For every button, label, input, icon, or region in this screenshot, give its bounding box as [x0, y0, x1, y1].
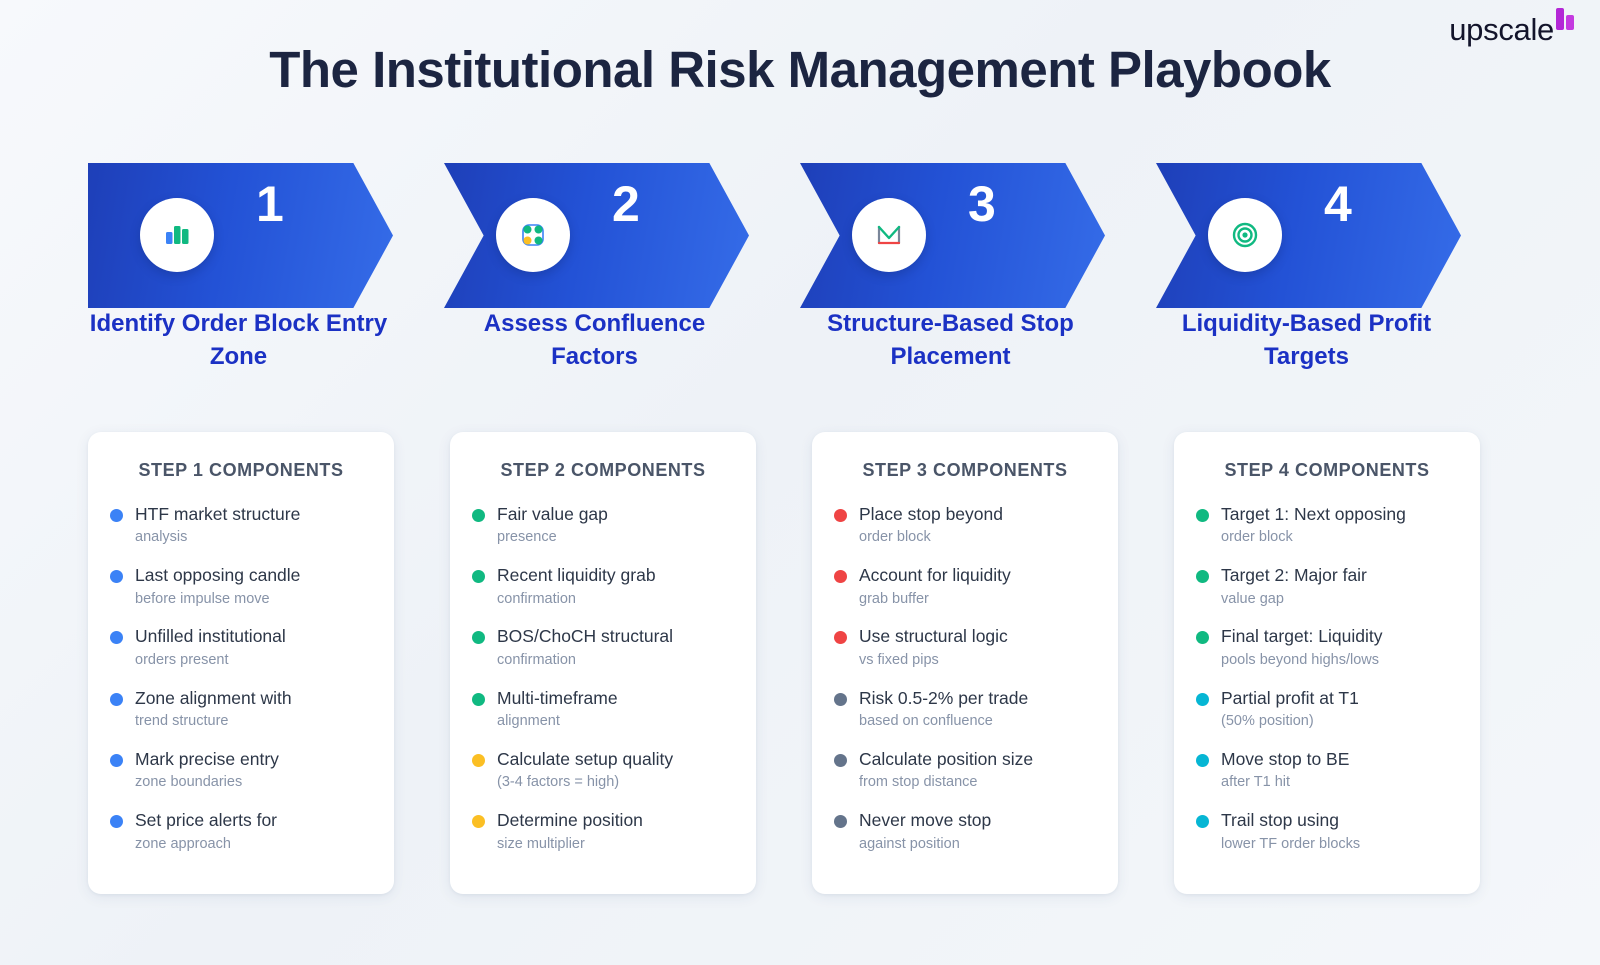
list-item-title: Target 1: Next opposing [1221, 503, 1458, 525]
list-item: Partial profit at T1(50% position) [1196, 687, 1458, 731]
step-heading: Identify Order Block Entry Zone [88, 308, 389, 374]
list-item-body: BOS/ChoCH structuralconfirmation [497, 625, 734, 669]
step-number: 1 [256, 179, 284, 229]
list-item-body: Set price alerts forzone approach [135, 809, 372, 853]
step-arrow-2[interactable]: 2 [444, 163, 800, 308]
list-item-subtitle: zone boundaries [135, 773, 372, 792]
bullet-dot-icon [110, 631, 123, 644]
bullet-dot-icon [1196, 570, 1209, 583]
list-item: Recent liquidity grabconfirmation [472, 564, 734, 608]
list-item: Risk 0.5-2% per tradebased on confluence [834, 687, 1096, 731]
step-arrow-1[interactable]: 1 [88, 163, 444, 308]
list-item-subtitle: based on confluence [859, 712, 1096, 731]
list-item-title: Set price alerts for [135, 809, 372, 831]
list-item-subtitle: (50% position) [1221, 712, 1458, 731]
list-item-subtitle: alignment [497, 712, 734, 731]
step-heading: Structure-Based Stop Placement [800, 308, 1101, 374]
step-arrows-row: 1234 [88, 163, 1512, 308]
list-item: Final target: Liquiditypools beyond high… [1196, 625, 1458, 669]
bullet-dot-icon [834, 754, 847, 767]
bullet-dot-icon [110, 754, 123, 767]
step-number: 4 [1324, 179, 1352, 229]
list-item-title: Use structural logic [859, 625, 1096, 647]
bullet-dot-icon [1196, 754, 1209, 767]
list-item-subtitle: grab buffer [859, 590, 1096, 609]
list-item-title: Last opposing candle [135, 564, 372, 586]
list-item: Multi-timeframealignment [472, 687, 734, 731]
list-item-title: Target 2: Major fair [1221, 564, 1458, 586]
arrow-banner-shape [800, 163, 1105, 308]
list-item-body: Multi-timeframealignment [497, 687, 734, 731]
list-item-body: Risk 0.5-2% per tradebased on confluence [859, 687, 1096, 731]
list-item-body: Final target: Liquiditypools beyond high… [1221, 625, 1458, 669]
list-item-subtitle: analysis [135, 528, 372, 547]
list-item-title: Risk 0.5-2% per trade [859, 687, 1096, 709]
list-item-body: Target 2: Major fairvalue gap [1221, 564, 1458, 608]
target-icon [1208, 198, 1282, 272]
card-title: STEP 4 COMPONENTS [1196, 460, 1458, 481]
list-item: Zone alignment withtrend structure [110, 687, 372, 731]
bullet-dot-icon [834, 815, 847, 828]
bullet-dot-icon [472, 815, 485, 828]
component-card: STEP 2 COMPONENTSFair value gappresenceR… [450, 432, 756, 894]
list-item-subtitle: vs fixed pips [859, 651, 1096, 670]
envelope-icon [852, 198, 926, 272]
bullet-dot-icon [110, 570, 123, 583]
bullet-dot-icon [1196, 693, 1209, 706]
bullet-dot-icon [1196, 509, 1209, 522]
component-card: STEP 1 COMPONENTSHTF market structureana… [88, 432, 394, 894]
list-item: Move stop to BEafter T1 hit [1196, 748, 1458, 792]
list-item-title: HTF market structure [135, 503, 372, 525]
list-item: Determine positionsize multiplier [472, 809, 734, 853]
list-item-title: Zone alignment with [135, 687, 372, 709]
list-item-subtitle: confirmation [497, 651, 734, 670]
list-item-title: Trail stop using [1221, 809, 1458, 831]
list-item-subtitle: lower TF order blocks [1221, 835, 1458, 854]
bullet-dot-icon [472, 631, 485, 644]
step-number: 2 [612, 179, 640, 229]
list-item-title: Unfilled institutional [135, 625, 372, 647]
page-title: The Institutional Risk Management Playbo… [0, 40, 1600, 99]
list-item-subtitle: value gap [1221, 590, 1458, 609]
list-item-body: Zone alignment withtrend structure [135, 687, 372, 731]
list-item-title: Multi-timeframe [497, 687, 734, 709]
bullet-dot-icon [472, 693, 485, 706]
list-item-title: Final target: Liquidity [1221, 625, 1458, 647]
list-item-subtitle: confirmation [497, 590, 734, 609]
step-heading-cell-1: Identify Order Block Entry Zone [88, 308, 444, 374]
step-heading-cell-4: Liquidity-Based Profit Targets [1156, 308, 1512, 374]
list-item: Set price alerts forzone approach [110, 809, 372, 853]
list-item-title: Fair value gap [497, 503, 734, 525]
step-heading-cell-2: Assess Confluence Factors [444, 308, 800, 374]
list-item-body: Target 1: Next opposingorder block [1221, 503, 1458, 547]
list-item-body: Unfilled institutionalorders present [135, 625, 372, 669]
list-item: Last opposing candlebefore impulse move [110, 564, 372, 608]
list-item-body: Account for liquiditygrab buffer [859, 564, 1096, 608]
step-heading-cell-3: Structure-Based Stop Placement [800, 308, 1156, 374]
list-item-title: Partial profit at T1 [1221, 687, 1458, 709]
bullet-dot-icon [1196, 815, 1209, 828]
list-item: Target 1: Next opposingorder block [1196, 503, 1458, 547]
list-item: Unfilled institutionalorders present [110, 625, 372, 669]
list-item-body: Last opposing candlebefore impulse move [135, 564, 372, 608]
list-item-subtitle: zone approach [135, 835, 372, 854]
step-arrow-3[interactable]: 3 [800, 163, 1156, 308]
step-number: 3 [968, 179, 996, 229]
list-item-body: Partial profit at T1(50% position) [1221, 687, 1458, 731]
bullet-dot-icon [834, 631, 847, 644]
list-item-subtitle: order block [859, 528, 1096, 547]
list-item: Target 2: Major fairvalue gap [1196, 564, 1458, 608]
list-item-subtitle: orders present [135, 651, 372, 670]
list-item: Never move stopagainst position [834, 809, 1096, 853]
list-item-title: Calculate position size [859, 748, 1096, 770]
list-item-subtitle: pools beyond highs/lows [1221, 651, 1458, 670]
bullet-dot-icon [834, 570, 847, 583]
list-item: Use structural logicvs fixed pips [834, 625, 1096, 669]
list-item-title: Calculate setup quality [497, 748, 734, 770]
list-item-title: BOS/ChoCH structural [497, 625, 734, 647]
component-cards-row: STEP 1 COMPONENTSHTF market structureana… [88, 432, 1512, 894]
list-item-title: Determine position [497, 809, 734, 831]
list-item-body: Recent liquidity grabconfirmation [497, 564, 734, 608]
list-item-title: Recent liquidity grab [497, 564, 734, 586]
bullet-dot-icon [1196, 631, 1209, 644]
list-item-subtitle: before impulse move [135, 590, 372, 609]
list-item-body: Use structural logicvs fixed pips [859, 625, 1096, 669]
step-arrow-4[interactable]: 4 [1156, 163, 1512, 308]
bar-chart-icon [140, 198, 214, 272]
list-item: Mark precise entryzone boundaries [110, 748, 372, 792]
arrow-banner-shape [1156, 163, 1461, 308]
arrow-banner-shape [88, 163, 393, 308]
list-item: Trail stop usinglower TF order blocks [1196, 809, 1458, 853]
bullet-dot-icon [834, 693, 847, 706]
list-item: Calculate setup quality(3-4 factors = hi… [472, 748, 734, 792]
component-card: STEP 3 COMPONENTSPlace stop beyondorder … [812, 432, 1118, 894]
list-item: Account for liquiditygrab buffer [834, 564, 1096, 608]
puzzle-cluster-icon [496, 198, 570, 272]
bullet-dot-icon [472, 754, 485, 767]
list-item-title: Account for liquidity [859, 564, 1096, 586]
bullet-dot-icon [110, 693, 123, 706]
list-item-subtitle: order block [1221, 528, 1458, 547]
list-item: Place stop beyondorder block [834, 503, 1096, 547]
arrow-banner-shape [444, 163, 749, 308]
list-item: Fair value gappresence [472, 503, 734, 547]
list-item-body: Mark precise entryzone boundaries [135, 748, 372, 792]
list-item-subtitle: size multiplier [497, 835, 734, 854]
list-item-body: Determine positionsize multiplier [497, 809, 734, 853]
list-item-body: Trail stop usinglower TF order blocks [1221, 809, 1458, 853]
step-heading: Assess Confluence Factors [444, 308, 745, 374]
list-item-body: Fair value gappresence [497, 503, 734, 547]
list-item-subtitle: trend structure [135, 712, 372, 731]
list-item: BOS/ChoCH structuralconfirmation [472, 625, 734, 669]
list-item-subtitle: from stop distance [859, 773, 1096, 792]
list-item-subtitle: against position [859, 835, 1096, 854]
card-title: STEP 3 COMPONENTS [834, 460, 1096, 481]
list-item: Calculate position sizefrom stop distanc… [834, 748, 1096, 792]
card-title: STEP 2 COMPONENTS [472, 460, 734, 481]
list-item-title: Mark precise entry [135, 748, 372, 770]
list-item-subtitle: after T1 hit [1221, 773, 1458, 792]
list-item-title: Move stop to BE [1221, 748, 1458, 770]
list-item-title: Never move stop [859, 809, 1096, 831]
brand-mark-icon [1556, 8, 1574, 30]
bullet-dot-icon [110, 509, 123, 522]
card-title: STEP 1 COMPONENTS [110, 460, 372, 481]
list-item-body: Never move stopagainst position [859, 809, 1096, 853]
list-item-body: HTF market structureanalysis [135, 503, 372, 547]
list-item-subtitle: (3-4 factors = high) [497, 773, 734, 792]
list-item-body: Move stop to BEafter T1 hit [1221, 748, 1458, 792]
list-item: HTF market structureanalysis [110, 503, 372, 547]
list-item-body: Place stop beyondorder block [859, 503, 1096, 547]
list-item-subtitle: presence [497, 528, 734, 547]
component-card: STEP 4 COMPONENTSTarget 1: Next opposing… [1174, 432, 1480, 894]
step-headings-row: Identify Order Block Entry ZoneAssess Co… [88, 308, 1512, 374]
step-heading: Liquidity-Based Profit Targets [1156, 308, 1457, 374]
bullet-dot-icon [834, 509, 847, 522]
bullet-dot-icon [472, 570, 485, 583]
bullet-dot-icon [472, 509, 485, 522]
list-item-body: Calculate setup quality(3-4 factors = hi… [497, 748, 734, 792]
list-item-title: Place stop beyond [859, 503, 1096, 525]
list-item-body: Calculate position sizefrom stop distanc… [859, 748, 1096, 792]
bullet-dot-icon [110, 815, 123, 828]
